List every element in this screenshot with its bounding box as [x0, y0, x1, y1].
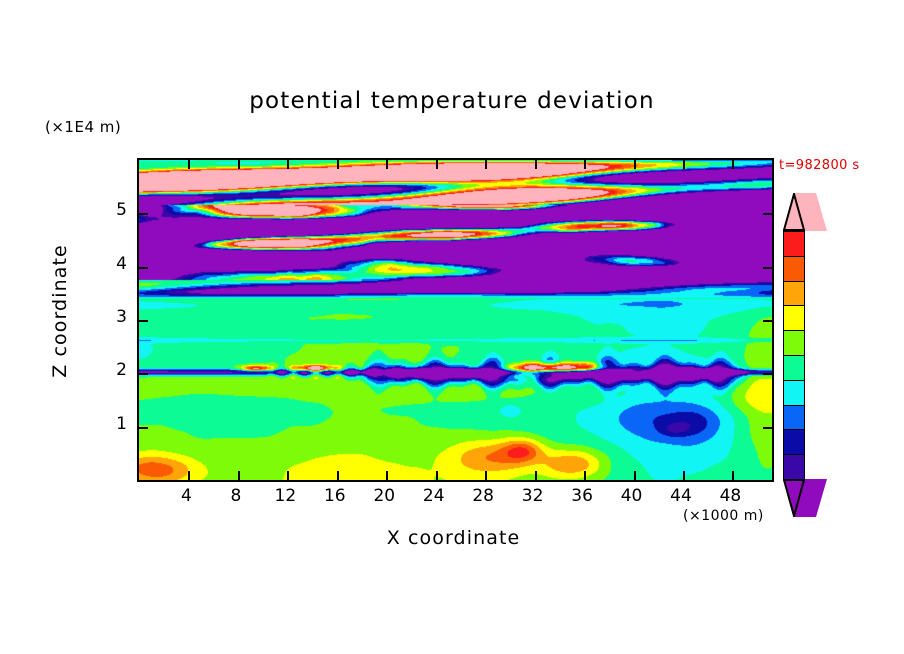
colorbar-band	[783, 231, 805, 257]
colorbar-cap-min	[783, 479, 827, 517]
x-tick-top	[584, 160, 586, 169]
x-tick-top	[732, 160, 734, 169]
x-tick-label: 16	[315, 486, 355, 506]
colorbar-band	[783, 305, 805, 331]
x-axis-title: X coordinate	[137, 527, 770, 549]
x-tick-label: 44	[661, 486, 701, 506]
y-tick-right	[763, 373, 772, 375]
x-tick-label: 32	[513, 486, 553, 506]
x-tick-top	[337, 160, 339, 169]
y-axis-unit-label: (×1E4 m)	[45, 118, 121, 136]
y-tick-label: 1	[97, 414, 127, 434]
colorbar-band	[783, 429, 805, 455]
x-tick	[535, 471, 537, 480]
x-tick	[584, 471, 586, 480]
x-tick-top	[634, 160, 636, 169]
x-tick	[732, 471, 734, 480]
y-tick	[139, 427, 148, 429]
x-tick-top	[238, 160, 240, 169]
y-tick-right	[763, 213, 772, 215]
colorbar-cap-max	[783, 193, 827, 231]
contour-plot-area	[137, 158, 774, 482]
colorbar-band	[783, 355, 805, 381]
y-tick-right	[763, 320, 772, 322]
x-tick-label: 8	[216, 486, 256, 506]
figure-root: potential temperature deviation (×1E4 m)…	[0, 0, 904, 654]
x-tick-top	[287, 160, 289, 169]
colorbar-band	[783, 405, 805, 431]
y-tick-right	[763, 427, 772, 429]
colorbar-band	[783, 454, 805, 480]
x-tick	[386, 471, 388, 480]
colorbar-band	[783, 256, 805, 282]
x-tick-label: 12	[265, 486, 305, 506]
x-tick	[238, 471, 240, 480]
x-tick	[287, 471, 289, 480]
x-tick-label: 40	[612, 486, 652, 506]
y-tick-label: 5	[97, 200, 127, 220]
x-tick-top	[386, 160, 388, 169]
x-axis-unit-label: (×1000 m)	[683, 508, 764, 524]
colorbar: 0.320.160−0.16−0.32	[783, 231, 805, 479]
colorbar-band	[783, 281, 805, 307]
x-tick-label: 28	[463, 486, 503, 506]
x-tick	[436, 471, 438, 480]
colorbar-band	[783, 380, 805, 406]
y-tick-label: 3	[97, 307, 127, 327]
y-tick	[139, 213, 148, 215]
x-tick	[683, 471, 685, 480]
y-tick-label: 2	[97, 360, 127, 380]
contour-field	[139, 160, 772, 480]
y-tick	[139, 373, 148, 375]
colorbar-band	[783, 330, 805, 356]
x-tick-label: 24	[414, 486, 454, 506]
x-tick-label: 36	[562, 486, 602, 506]
x-tick	[485, 471, 487, 480]
x-tick-label: 20	[364, 486, 404, 506]
y-axis-title: Z coordinate	[49, 211, 71, 411]
x-tick	[634, 471, 636, 480]
x-tick-top	[683, 160, 685, 169]
x-tick-label: 4	[166, 486, 206, 506]
y-tick	[139, 320, 148, 322]
y-tick-label: 4	[97, 254, 127, 274]
x-tick-label: 48	[710, 486, 750, 506]
timestamp-annotation: t=982800 s	[779, 158, 860, 173]
x-tick-top	[535, 160, 537, 169]
x-tick-top	[485, 160, 487, 169]
x-tick-top	[188, 160, 190, 169]
x-tick-top	[436, 160, 438, 169]
y-tick	[139, 267, 148, 269]
y-tick-right	[763, 267, 772, 269]
chart-title: potential temperature deviation	[0, 88, 904, 114]
x-tick	[188, 471, 190, 480]
x-tick	[337, 471, 339, 480]
